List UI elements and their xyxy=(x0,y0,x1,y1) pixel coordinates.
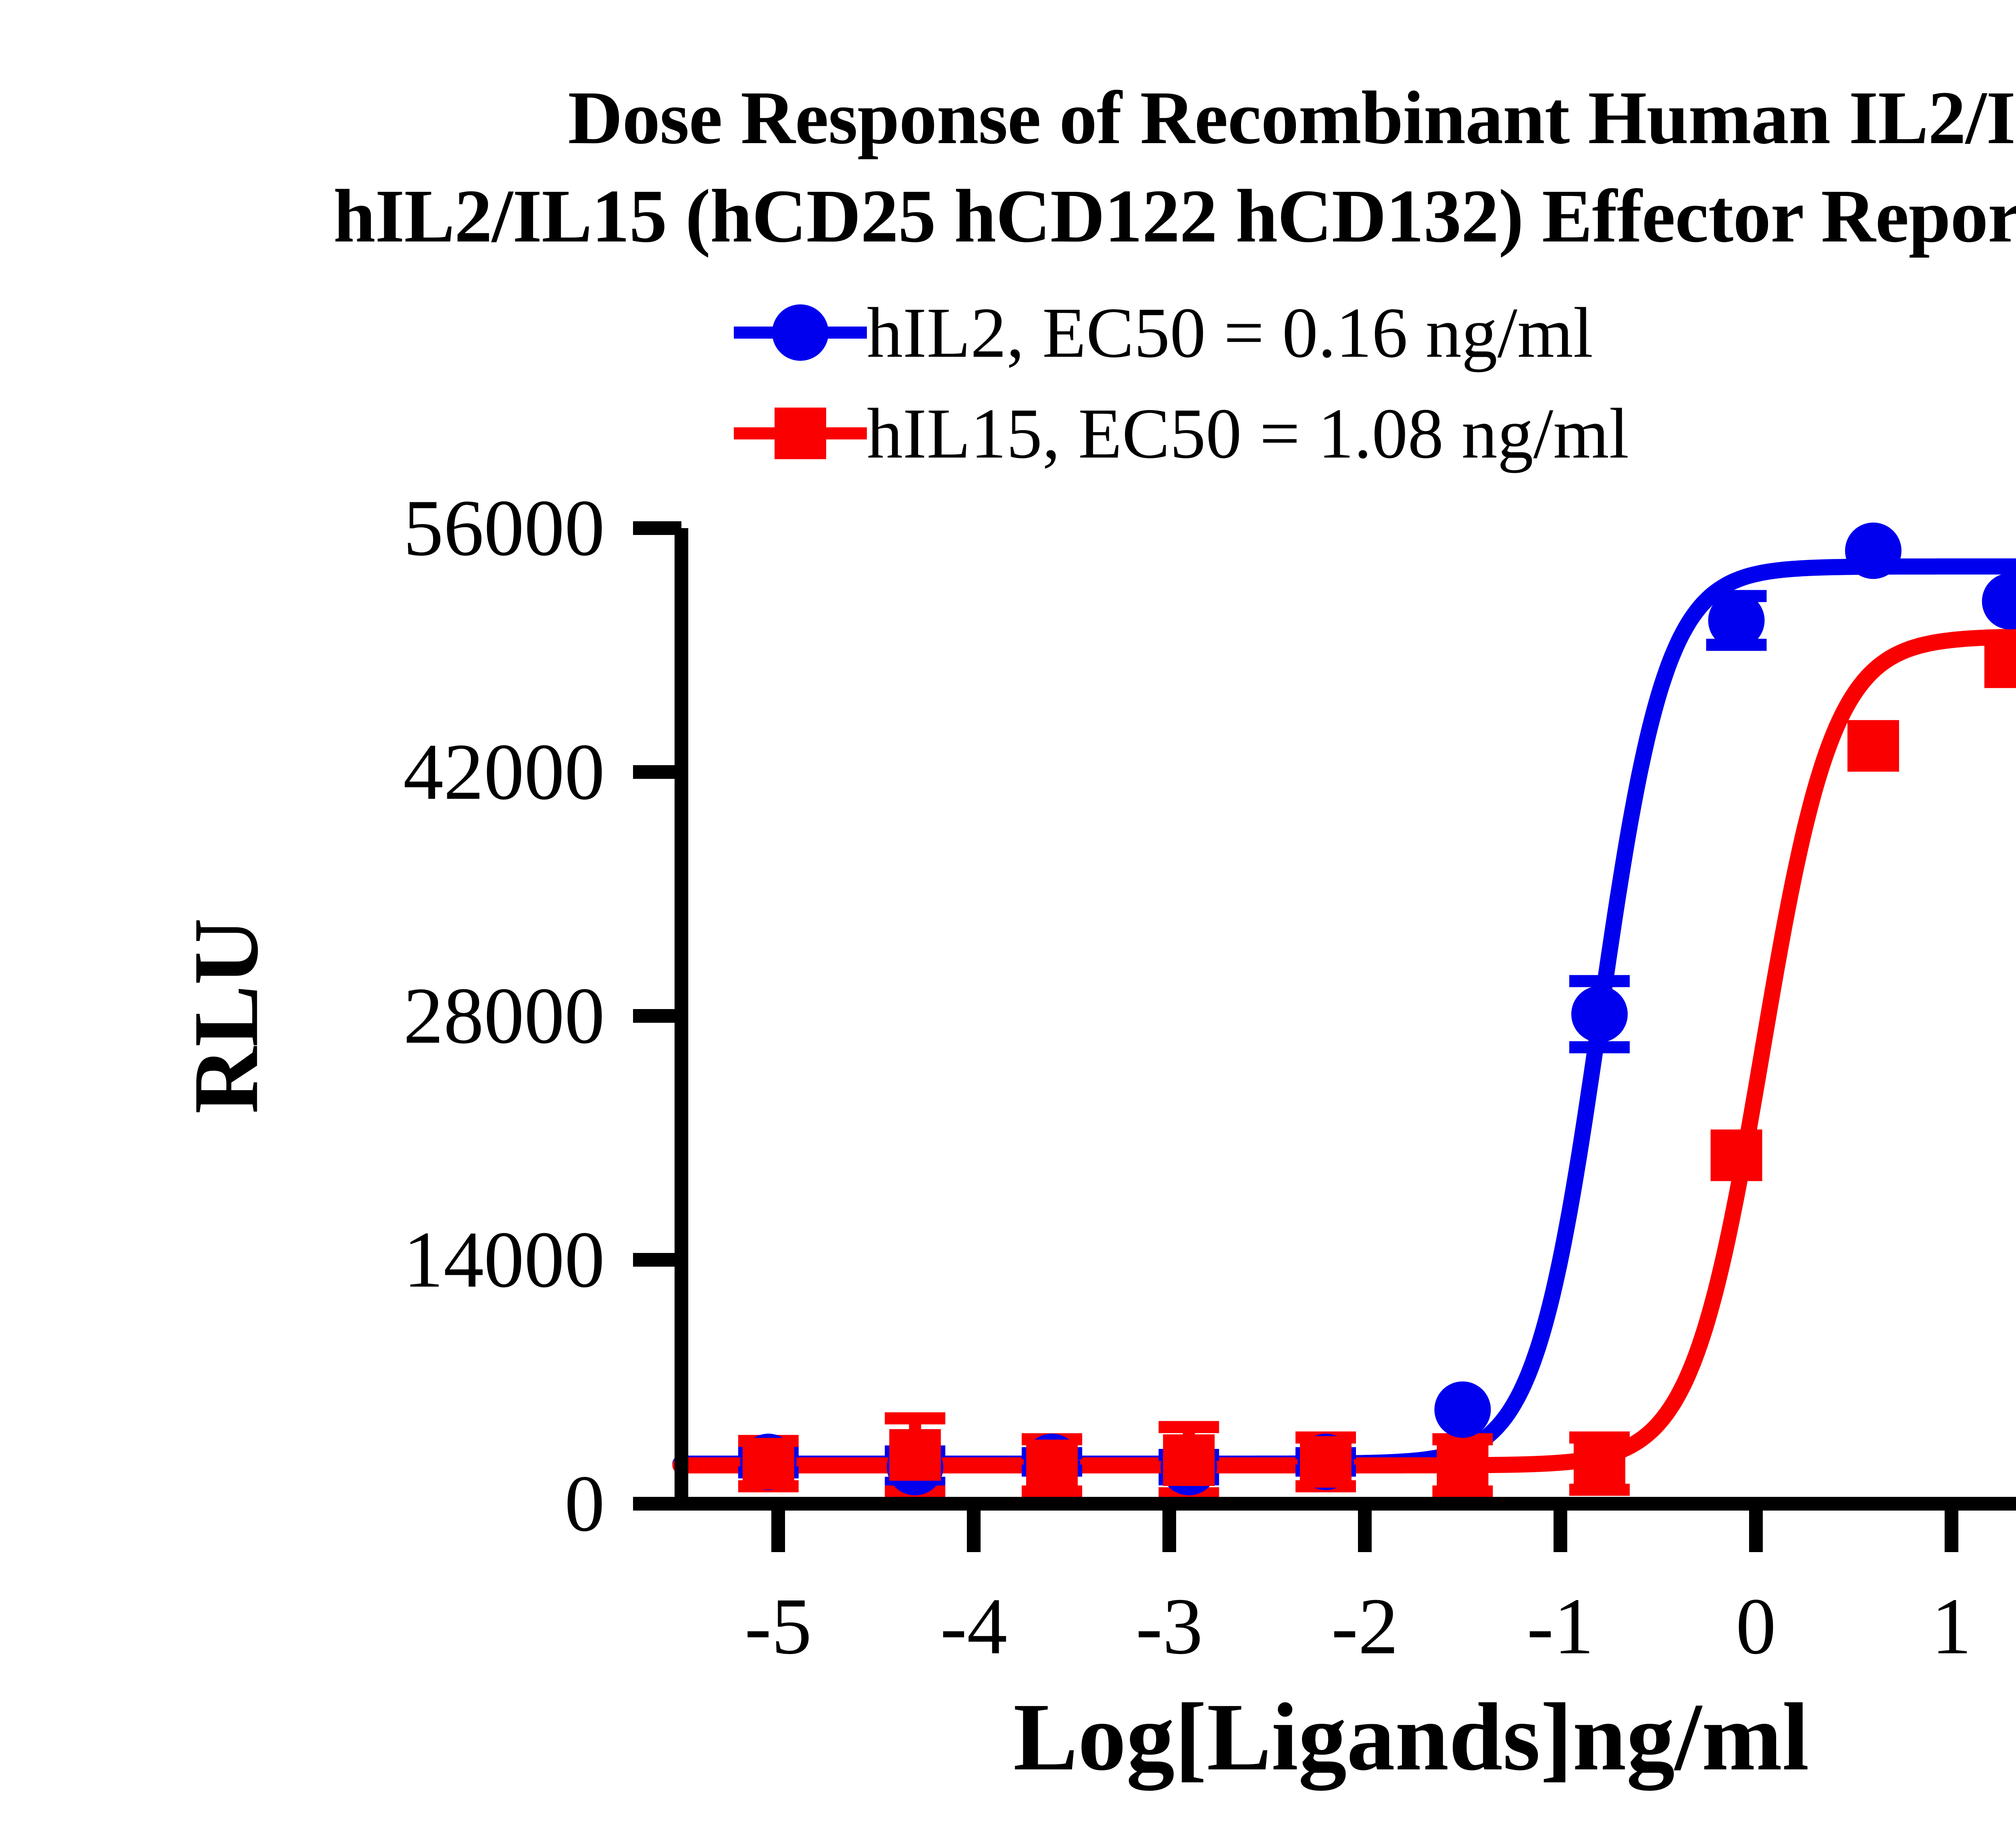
data-point-square[interactable] xyxy=(1574,1438,1625,1490)
data-point-circle[interactable] xyxy=(1571,986,1628,1043)
y-tick-label: 42000 xyxy=(403,726,605,818)
x-axis-title: Log[Ligands]ng/ml xyxy=(1013,1681,1809,1792)
data-point-circle[interactable] xyxy=(1708,592,1765,649)
data-point-circle[interactable] xyxy=(1982,573,2016,630)
data-point-square[interactable] xyxy=(889,1429,941,1481)
x-tick-label: -5 xyxy=(745,1580,812,1673)
data-point-square[interactable] xyxy=(1985,637,2016,688)
errorbar-layer xyxy=(738,596,1767,1494)
y-tick-label: 28000 xyxy=(403,970,605,1062)
data-point-square[interactable] xyxy=(1026,1440,1078,1491)
x-tick-label: -4 xyxy=(940,1580,1008,1673)
data-point-square[interactable] xyxy=(743,1438,794,1490)
data-point-square[interactable] xyxy=(1847,720,1899,772)
fitted-curve-hil15 xyxy=(681,636,2016,1465)
curve-layer xyxy=(681,566,2016,1465)
axis-layer xyxy=(633,528,2016,1552)
y-tick-label: 0 xyxy=(564,1458,605,1550)
data-point-circle[interactable] xyxy=(1845,522,1901,579)
data-point-square[interactable] xyxy=(1437,1440,1489,1491)
fitted-curve-hil2 xyxy=(681,566,2016,1464)
y-tick-label: 14000 xyxy=(403,1214,605,1306)
data-point-square[interactable] xyxy=(1711,1130,1762,1181)
x-tick-label: -1 xyxy=(1527,1580,1594,1673)
data-point-circle[interactable] xyxy=(1435,1382,1491,1438)
y-tick-label: 56000 xyxy=(403,482,605,574)
x-tick-label: 0 xyxy=(1736,1580,1776,1673)
plot-svg xyxy=(0,0,2016,1823)
x-tick-label: -3 xyxy=(1136,1580,1203,1673)
plot-area: 014000280004200056000 -5-4-3-2-1012 RLU … xyxy=(0,0,2016,1823)
x-tick-label: 1 xyxy=(1931,1580,1972,1673)
x-tick-label: -2 xyxy=(1331,1580,1399,1673)
y-axis-title: RLU xyxy=(173,918,279,1114)
figure-canvas: Dose Response of Recombinant Human IL2/I… xyxy=(0,0,2016,1823)
datapoint-layer xyxy=(740,522,2016,1495)
data-point-square[interactable] xyxy=(1300,1436,1352,1488)
data-point-square[interactable] xyxy=(1163,1434,1215,1486)
